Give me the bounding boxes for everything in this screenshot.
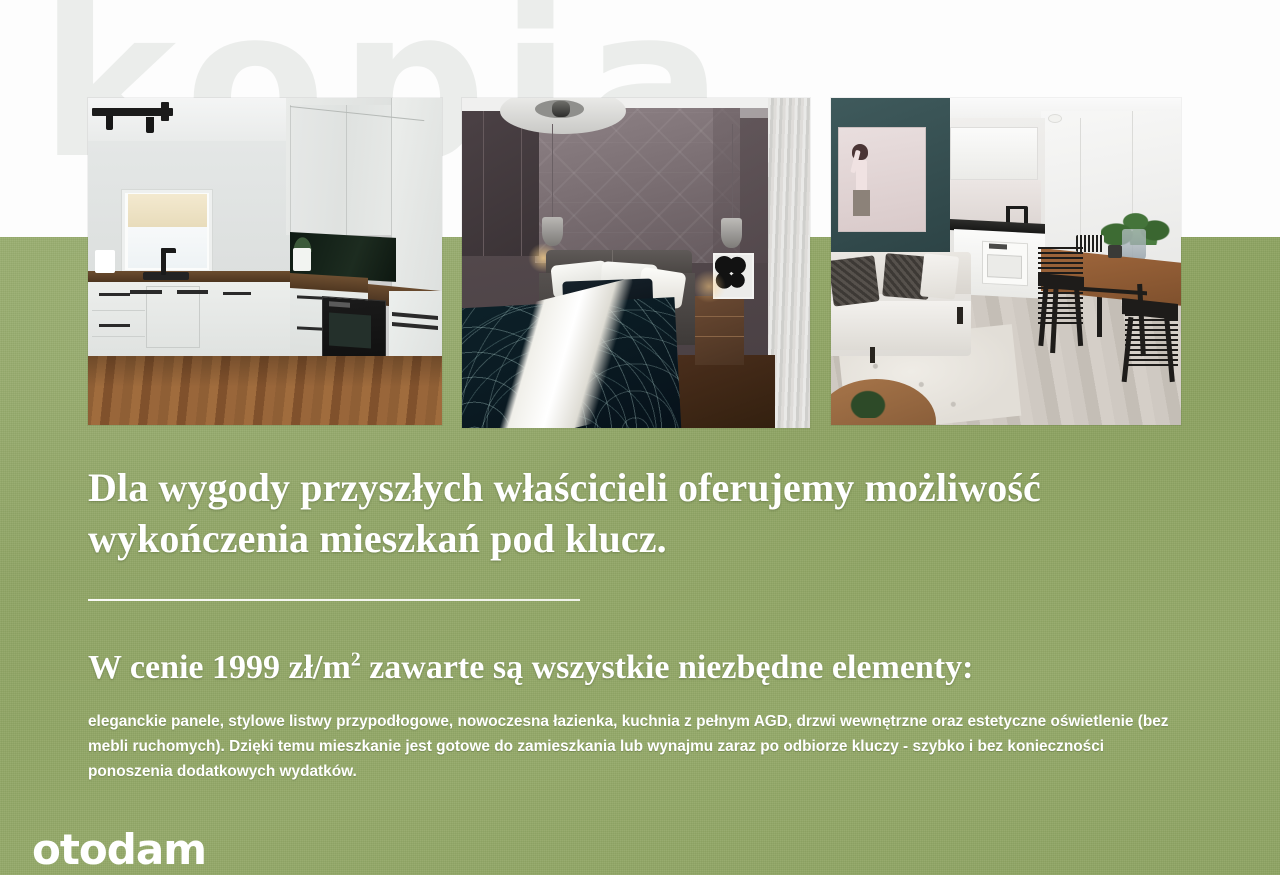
- subhead-suffix: zawarte są wszystkie niezbędne elementy:: [361, 649, 974, 686]
- brochure-page: kopia: [0, 0, 1280, 875]
- photo-kitchen: [88, 98, 442, 425]
- wall-art-portrait: [838, 127, 926, 232]
- otodom-logo[interactable]: otodam: [32, 830, 206, 870]
- page-headline: Dla wygody przyszłych właścicieli oferuj…: [88, 462, 1198, 564]
- price-subheadline: W cenie 1999 zł/m2 zawarte są wszystkie …: [88, 648, 1198, 689]
- spotlight-icon: [106, 116, 114, 131]
- otodom-logo-text: otodam: [32, 829, 206, 871]
- photo-gallery: [0, 0, 1280, 440]
- subhead-prefix: W cenie 1999 zł/m: [88, 649, 351, 686]
- photo-living-room: [831, 98, 1181, 425]
- photo-bedroom: [462, 98, 810, 428]
- body-paragraph: eleganckie panele, stylowe listwy przypo…: [88, 710, 1188, 785]
- spotlight-icon: [146, 117, 154, 133]
- subhead-superscript: 2: [351, 649, 361, 671]
- section-divider: [88, 599, 580, 601]
